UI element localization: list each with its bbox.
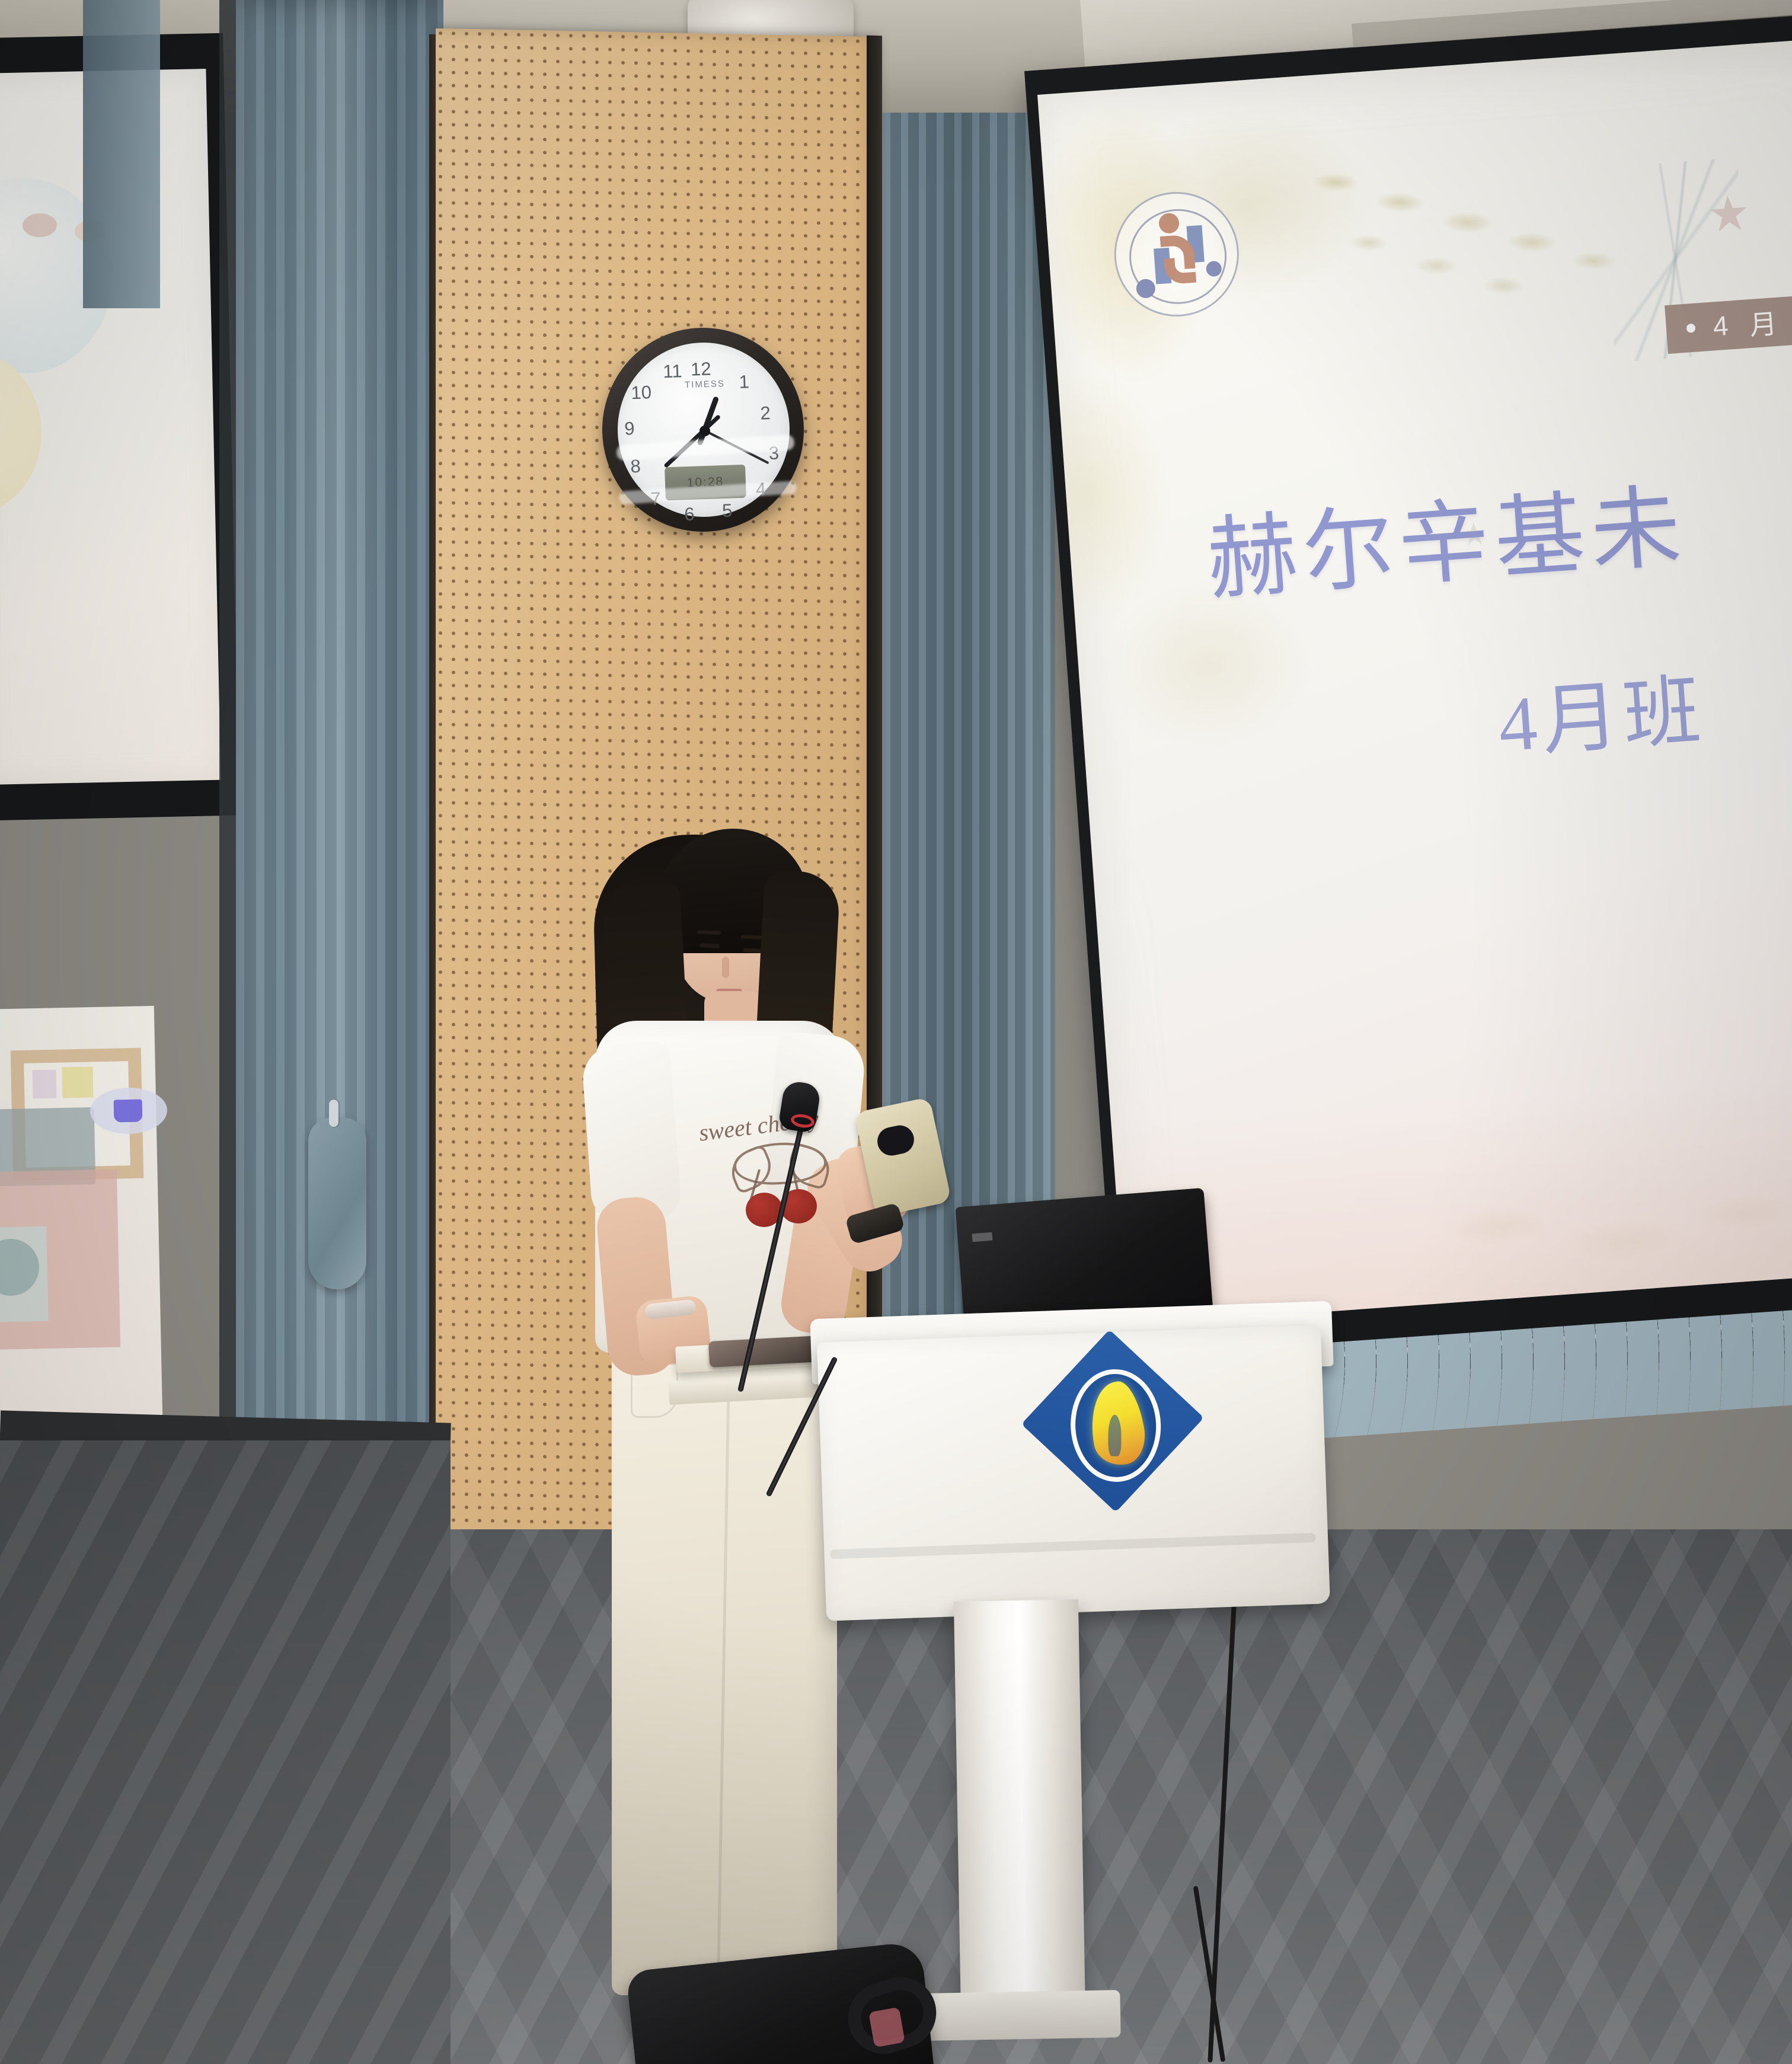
- carpet-floor-left: [0, 1440, 451, 2064]
- curtain-hook-icon: [329, 1100, 338, 1127]
- sticky-note-icon: [62, 1066, 93, 1098]
- clock-numeral-9: 9: [617, 418, 641, 440]
- star-decor-icon: [1707, 193, 1751, 236]
- clock-numeral-12: 12: [689, 358, 713, 380]
- speaker-sleeve-left: [581, 1040, 682, 1224]
- tag-month-unit: 月: [1748, 302, 1782, 343]
- clock-numeral-10: 10: [629, 382, 653, 404]
- curtain-tieback: [308, 1117, 366, 1289]
- tag-bullet-icon: [1686, 323, 1695, 333]
- clock-numeral-6: 6: [677, 503, 701, 525]
- slide-subtitle: 4月班: [1494, 647, 1708, 773]
- clock-numeral-5: 5: [715, 500, 739, 522]
- clock-center-pin: [699, 426, 710, 436]
- bag-icon: [114, 1100, 143, 1123]
- podium-base: [924, 1990, 1120, 2041]
- lecture-hall-photo: 12 1 2 3 4 5 6 7 8 9 10 11 TIMESS 10:28: [0, 0, 1792, 2064]
- slide: 4 月 赫尔辛基未 4月班: [1037, 39, 1792, 1372]
- curtain-far-left: [83, 0, 160, 308]
- backpack-accessory: [868, 2007, 905, 2047]
- right-projection-screen: 4 月 赫尔辛基未 4月班: [1037, 39, 1792, 1372]
- emblem-h-monogram: [1149, 225, 1212, 286]
- tag-month-number: 4: [1712, 309, 1733, 342]
- sticky-note-icon: [33, 1070, 57, 1099]
- podium-column: [954, 1599, 1085, 2017]
- podium-emblem: [1017, 1325, 1213, 1521]
- clock-numeral-11: 11: [660, 360, 685, 382]
- clock-brand-label: TIMESS: [674, 378, 736, 391]
- laptop-brand-badge: [972, 1232, 993, 1242]
- speaker-nose: [722, 957, 729, 978]
- clock-numeral-2: 2: [753, 402, 777, 424]
